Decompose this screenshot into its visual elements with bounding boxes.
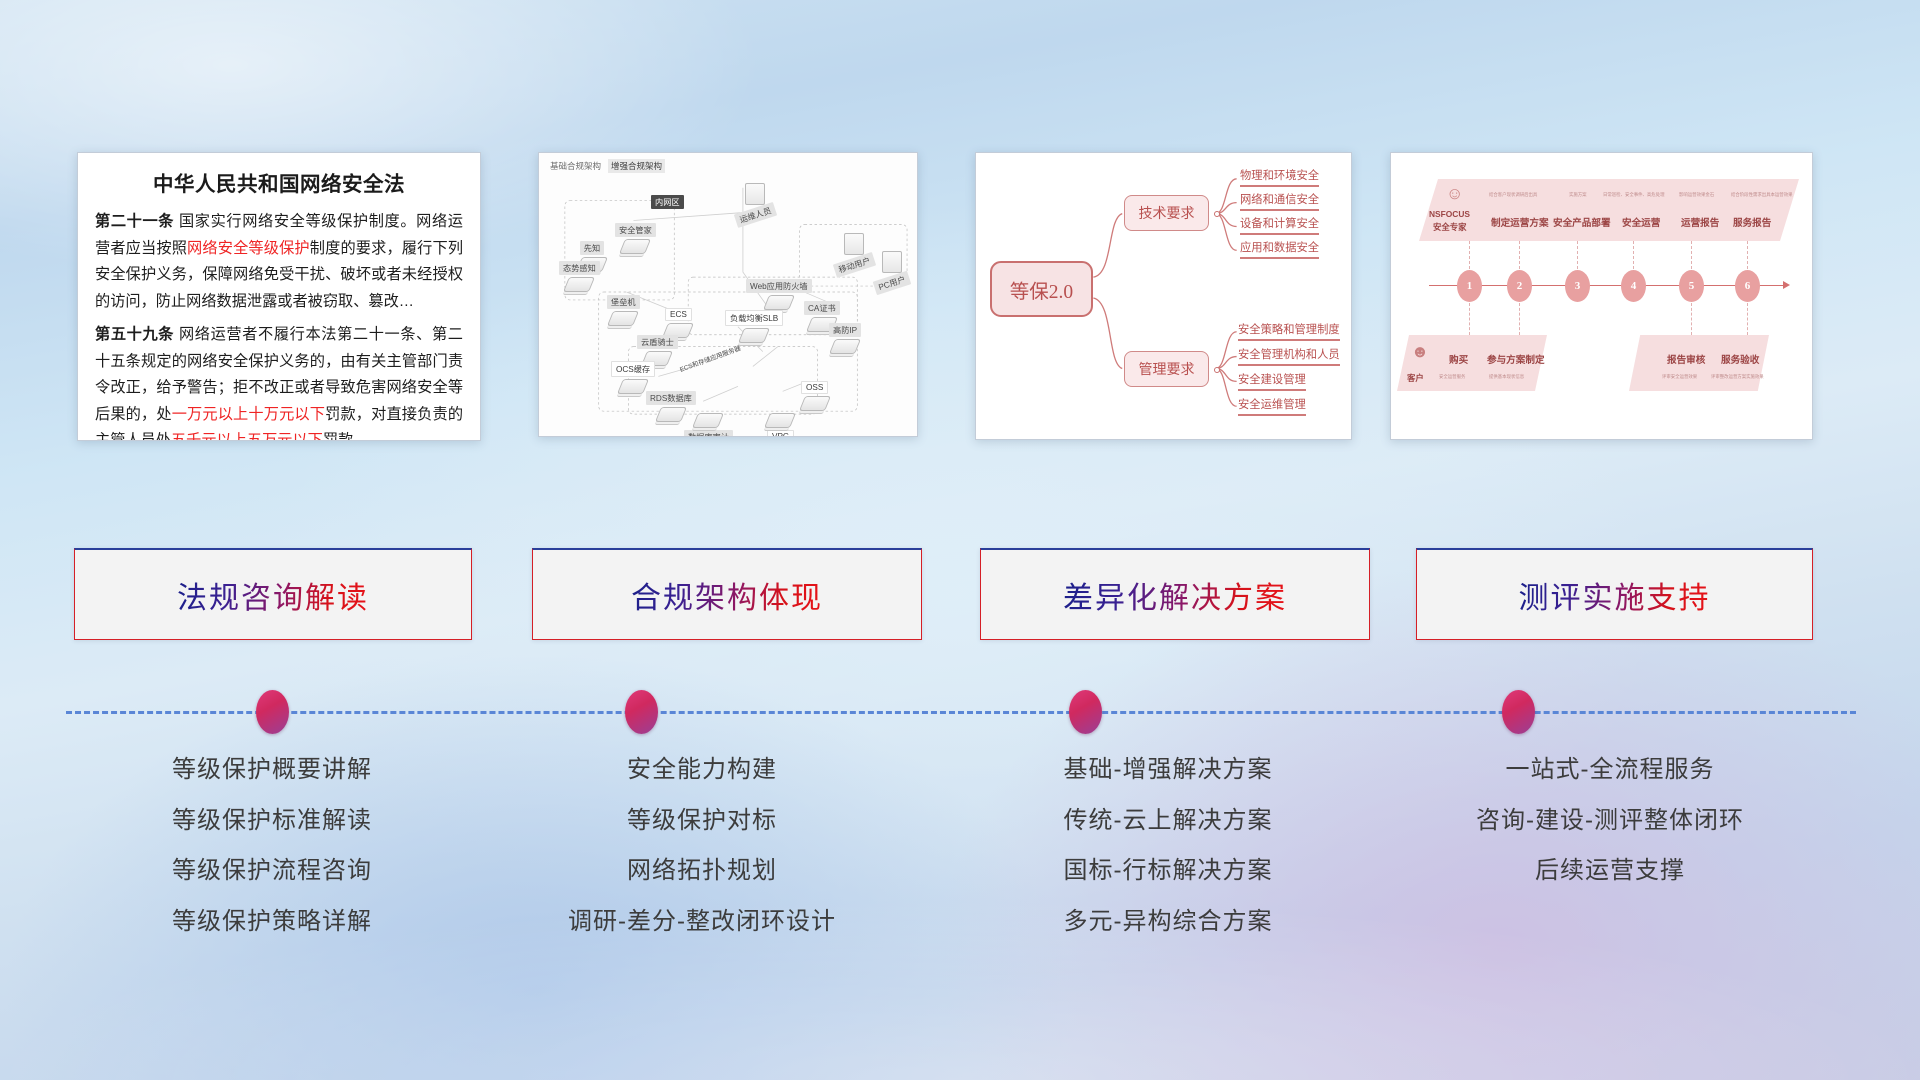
top-step-1-sub: 结合客户现状调研后出具 <box>1489 192 1537 198</box>
timeline-node-1[interactable] <box>256 690 289 734</box>
vpc-icon <box>764 413 796 428</box>
workstation-icon <box>745 183 765 205</box>
connector-dash <box>1577 241 1578 269</box>
banner-assessment-support[interactable]: 测评实施支持 <box>1416 548 1813 640</box>
node-label-situation-awareness: 态势感知 <box>559 261 600 275</box>
law-title: 中华人民共和国网络安全法 <box>95 167 463 197</box>
list-item: 安全能力构建 <box>472 745 932 796</box>
shield-icon <box>829 339 861 354</box>
timeline-top-band <box>1419 179 1799 241</box>
article-59-label: 第五十九条 <box>95 326 174 343</box>
customer-label: 客户 <box>1407 372 1424 384</box>
bottom-step-2-sub: 提供基本现状信息 <box>1489 374 1524 380</box>
list-item: 后续运营支撑 <box>1380 846 1840 897</box>
storage-icon <box>799 396 831 411</box>
list-item: 一站式-全流程服务 <box>1380 745 1840 796</box>
top-step-3-title: 安全运营 <box>1622 215 1660 229</box>
node-label-ca-certificate: CA证书 <box>804 301 840 315</box>
article-59-highlight-1: 一万元以上十万元以下 <box>172 406 325 423</box>
banner-regulation-consulting[interactable]: 法规咨询解读 <box>74 548 472 640</box>
timeline-step-5: 5 <box>1679 270 1704 302</box>
node-label-anti-ddos-ip: 高防IP <box>829 323 861 337</box>
expert-person-icon: ☺ <box>1446 185 1463 202</box>
banner-label: 测评实施支持 <box>1519 573 1711 617</box>
list-item: 基础-增强解决方案 <box>938 745 1398 796</box>
connector-dash <box>1519 303 1520 335</box>
dashed-timeline <box>66 690 1856 734</box>
top-step-1-title: 制定运营方案 <box>1491 215 1549 229</box>
node-ecs: ECS <box>665 308 692 338</box>
node-bastion-host: 堡垒机 <box>607 295 640 326</box>
node-waf: Web应用防火墙 <box>746 279 812 310</box>
article-21-highlight: 网络安全等级保护 <box>187 240 310 257</box>
cache-icon <box>617 379 649 394</box>
card-cloud-architecture: 基础合规架构 增强合规架构 <box>538 152 918 437</box>
timeline-step-4: 4 <box>1621 270 1646 302</box>
node-database-audit: 数据库审计 <box>684 411 733 437</box>
node-anti-ddos-ip: 高防IP <box>829 323 861 354</box>
mindmap-leaf-network-security: 网络和通信安全 <box>1240 191 1319 211</box>
list-item: 等级保护策略详解 <box>42 897 502 948</box>
node-label-security-steward: 安全管家 <box>615 223 656 237</box>
timeline-step-2: 2 <box>1507 270 1532 302</box>
connector-dash <box>1691 303 1692 335</box>
connector-dash <box>1747 241 1748 269</box>
bottom-step-3-sub: 评审安全运营效果 <box>1662 374 1697 380</box>
card-dengbao-mindmap: 等保2.0 技术要求 物理和环境安全 网络和通信安全 设备和计算安全 应用和数据… <box>975 152 1352 440</box>
top-step-5-title: 服务报告 <box>1733 215 1771 229</box>
loadbalancer-icon <box>738 328 770 343</box>
timeline-step-3: 3 <box>1565 270 1590 302</box>
server-icon <box>563 277 595 292</box>
pc-icon <box>882 251 902 273</box>
database-icon <box>655 407 687 422</box>
node-situation-awareness: 态势感知 <box>559 261 600 292</box>
mindmap-leaf-physical-security: 物理和环境安全 <box>1240 167 1319 187</box>
expand-dot-icon[interactable] <box>1214 211 1220 217</box>
node-label-database-audit: 数据库审计 <box>684 430 733 437</box>
architecture-connectors <box>539 153 917 436</box>
list-item: 调研-差分-整改闭环设计 <box>472 897 932 948</box>
mindmap-branch-technical: 技术要求 <box>1124 195 1209 231</box>
mindmap-leaf-application-security: 应用和数据安全 <box>1240 239 1319 259</box>
list-item: 网络拓扑规划 <box>472 846 932 897</box>
connector-dash <box>1469 303 1470 335</box>
expand-dot-icon[interactable] <box>1214 367 1220 373</box>
bottom-step-3-title: 报告审核 <box>1667 352 1705 366</box>
mindmap-leaf-construction-mgmt: 安全建设管理 <box>1238 371 1306 391</box>
architecture-diagram: 基础合规架构 增强合规架构 <box>539 153 917 436</box>
list-item: 传统-云上解决方案 <box>938 796 1398 847</box>
top-step-4-title: 运营报告 <box>1681 215 1719 229</box>
detail-column-4: 一站式-全流程服务 咨询-建设-测评整体闭环 后续运营支撑 <box>1380 745 1840 897</box>
node-label-vpc: VPC <box>767 430 794 437</box>
timeline-node-2[interactable] <box>625 690 658 734</box>
node-label-internal-zone: 内网区 <box>651 195 684 209</box>
detail-column-2: 安全能力构建 等级保护对标 网络拓扑规划 调研-差分-整改闭环设计 <box>472 745 932 947</box>
list-item: 国标-行标解决方案 <box>938 846 1398 897</box>
customer-person-icon: ☻ <box>1411 343 1429 360</box>
banner-label: 合规架构体现 <box>631 573 823 617</box>
node-label-ecs: ECS <box>665 308 692 321</box>
node-label-rds-database: RDS数据库 <box>646 391 696 405</box>
node-internal-zone: 内网区 <box>651 195 684 209</box>
server-icon <box>607 311 639 326</box>
timeline-step-1: 1 <box>1457 270 1482 302</box>
mindmap-root: 等保2.0 <box>990 261 1093 317</box>
timeline-arrow-icon <box>1783 281 1790 289</box>
connector-dash <box>1469 241 1470 269</box>
node-pc-user: PC用户 <box>874 249 910 290</box>
banner-differentiated-solution[interactable]: 差异化解决方案 <box>980 548 1370 640</box>
list-item: 咨询-建设-测评整体闭环 <box>1380 796 1840 847</box>
list-item: 等级保护对标 <box>472 796 932 847</box>
top-step-5-sub: 结合阶段性需求出具本运营效果 <box>1731 192 1792 198</box>
node-label-bastion-host: 堡垒机 <box>607 295 640 309</box>
node-ocs-cache: OCS缓存 <box>611 361 655 394</box>
firewall-icon <box>763 295 795 310</box>
top-step-4-sub: 影响运营效果金石 <box>1679 192 1714 198</box>
banner-compliance-architecture[interactable]: 合规架构体现 <box>532 548 922 640</box>
bottom-step-1-sub: 安全运营服务 <box>1439 374 1465 380</box>
banner-row: 法规咨询解读 合规架构体现 差异化解决方案 测评实施支持 <box>0 548 1920 648</box>
node-mobile-user: 移动用户 <box>834 231 875 272</box>
node-slb: 负载均衡SLB <box>725 310 783 343</box>
banner-label: 法规咨询解读 <box>177 573 369 617</box>
top-step-3-sub: 日常巡检、安全事件、高危处理 <box>1603 192 1664 198</box>
timeline-node-4[interactable] <box>1502 690 1535 734</box>
law-article-21: 第二十一条 国家实行网络安全等级保护制度。网络运营者应当按照网络安全等级保护制度… <box>95 209 463 315</box>
list-item: 多元-异构综合方案 <box>938 897 1398 948</box>
timeline-dashed-line <box>66 711 1856 714</box>
connector-dash <box>1691 241 1692 269</box>
slide-stage: 中华人民共和国网络安全法 第二十一条 国家实行网络安全等级保护制度。网络运营者应… <box>0 0 1920 1080</box>
mindmap-leaf-operation-mgmt: 安全运维管理 <box>1238 396 1306 416</box>
audit-icon <box>692 413 724 428</box>
server-icon <box>619 239 651 254</box>
law-text-block: 中华人民共和国网络安全法 第二十一条 国家实行网络安全等级保护制度。网络运营者应… <box>78 153 480 441</box>
nsfocus-expert-label-1: NSFOCUS <box>1429 209 1470 219</box>
connector-dash <box>1519 241 1520 269</box>
card-nsfocus-timeline: ☺ NSFOCUS 安全专家 结合客户现状调研后出具 制定运营方案 实施方案 安… <box>1390 152 1813 440</box>
detail-column-row: 等级保护概要讲解 等级保护标准解读 等级保护流程咨询 等级保护策略详解 安全能力… <box>0 745 1920 975</box>
connector-dash <box>1633 241 1634 269</box>
node-label-ocs-cache: OCS缓存 <box>611 361 655 377</box>
detail-column-1: 等级保护概要讲解 等级保护标准解读 等级保护流程咨询 等级保护策略详解 <box>42 745 502 947</box>
article-59-text-c: 罚款。 <box>323 432 369 441</box>
top-step-2-title: 安全产品部署 <box>1553 215 1611 229</box>
banner-label: 差异化解决方案 <box>1063 573 1287 617</box>
timeline-node-3[interactable] <box>1069 690 1102 734</box>
node-oss: OSS <box>801 381 828 411</box>
mindmap-branch-management: 管理要求 <box>1124 351 1209 387</box>
mobile-icon <box>844 233 864 255</box>
article-59-highlight-2: 五千元以上五万元以下 <box>171 432 323 441</box>
detail-column-3: 基础-增强解决方案 传统-云上解决方案 国标-行标解决方案 多元-异构综合方案 <box>938 745 1398 947</box>
node-ops-personnel: 运维人员 <box>735 181 776 222</box>
image-card-row: 中华人民共和国网络安全法 第二十一条 国家实行网络安全等级保护制度。网络运营者应… <box>0 152 1920 442</box>
node-label-slb: 负载均衡SLB <box>725 310 783 326</box>
bottom-step-2-title: 参与方案制定 <box>1487 352 1545 366</box>
node-security-steward: 安全管家 <box>615 223 656 254</box>
nsfocus-timeline-diagram: ☺ NSFOCUS 安全专家 结合客户现状调研后出具 制定运营方案 实施方案 安… <box>1391 153 1812 439</box>
mindmap-leaf-org-personnel: 安全管理机构和人员 <box>1238 346 1340 366</box>
list-item: 等级保护标准解读 <box>42 796 502 847</box>
list-item: 等级保护流程咨询 <box>42 846 502 897</box>
connector-dash <box>1747 303 1748 335</box>
node-label-xianzhi: 先知 <box>580 241 604 255</box>
nsfocus-expert-label-2: 安全专家 <box>1433 221 1467 233</box>
bottom-step-1-title: 购买 <box>1449 352 1468 366</box>
timeline-step-6: 6 <box>1735 270 1760 302</box>
bottom-step-4-sub: 评审整改运营方案实施效果 <box>1711 374 1764 380</box>
top-step-2-sub: 实施方案 <box>1569 192 1587 198</box>
law-article-59: 第五十九条 网络运营者不履行本法第二十一条、第二十五条规定的网络安全保护义务的，… <box>95 322 463 441</box>
node-label-oss: OSS <box>801 381 828 394</box>
article-21-label: 第二十一条 <box>95 213 174 230</box>
card-cybersecurity-law: 中华人民共和国网络安全法 第二十一条 国家实行网络安全等级保护制度。网络运营者应… <box>77 152 481 441</box>
mindmap-diagram: 等保2.0 技术要求 物理和环境安全 网络和通信安全 设备和计算安全 应用和数据… <box>976 153 1351 439</box>
timeline-axis <box>1429 285 1784 286</box>
node-vpc: VPC <box>767 411 794 437</box>
mindmap-leaf-device-security: 设备和计算安全 <box>1240 215 1319 235</box>
mindmap-leaf-policy-system: 安全策略和管理制度 <box>1238 321 1340 341</box>
node-label-waf: Web应用防火墙 <box>746 279 812 293</box>
bottom-step-4-title: 服务验收 <box>1721 352 1759 366</box>
node-label-cloud-shield-knight: 云盾骑士 <box>637 335 678 349</box>
list-item: 等级保护概要讲解 <box>42 745 502 796</box>
